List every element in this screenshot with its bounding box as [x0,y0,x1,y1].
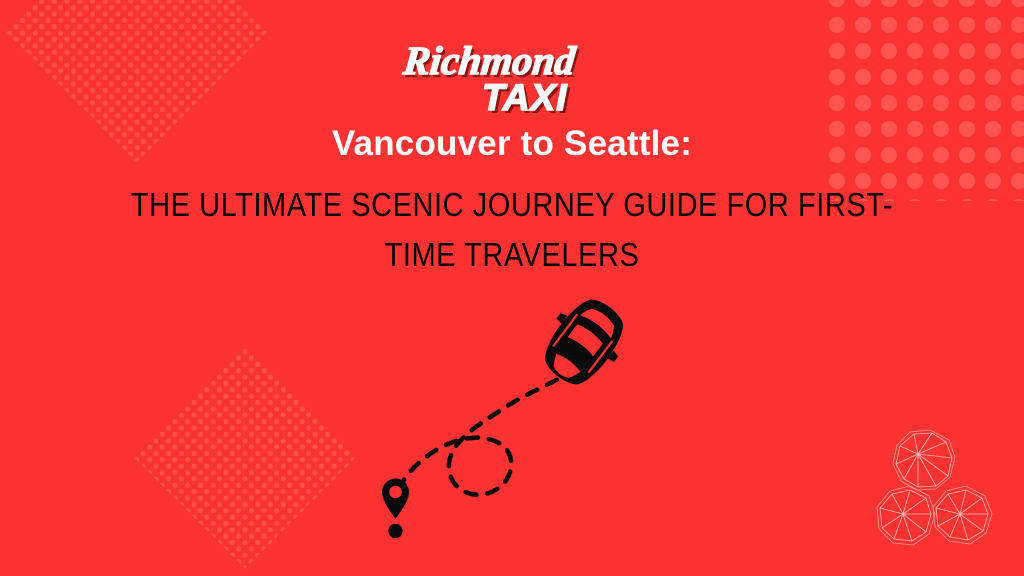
wireframe-blob-left [877,486,935,545]
wireframe-blob-top [893,430,955,490]
blog-banner: Richmond TAXI Richmond TAXI Vancouver to… [0,0,1024,576]
page-title: Vancouver to Seattle: [60,124,964,164]
dashed-route-path [392,378,560,510]
map-pin-destination [382,479,409,539]
route-illustration [352,300,652,560]
wireframe-blob-right [933,486,992,544]
logo-block-text: TAXI [482,77,568,118]
dotted-diamond-bottom-left-decoration [133,345,356,568]
page-subtitle: THE ULTIMATE SCENIC JOURNEY GUIDE FOR FI… [114,180,910,280]
car-top-view [529,286,639,398]
wireframe-rock-cluster-decoration [870,424,1000,558]
headline-block: Vancouver to Seattle: THE ULTIMATE SCENI… [0,124,1024,281]
richmond-taxi-logo: Richmond TAXI Richmond TAXI [0,30,1024,122]
logo-artwork: Richmond TAXI Richmond TAXI [397,30,627,122]
